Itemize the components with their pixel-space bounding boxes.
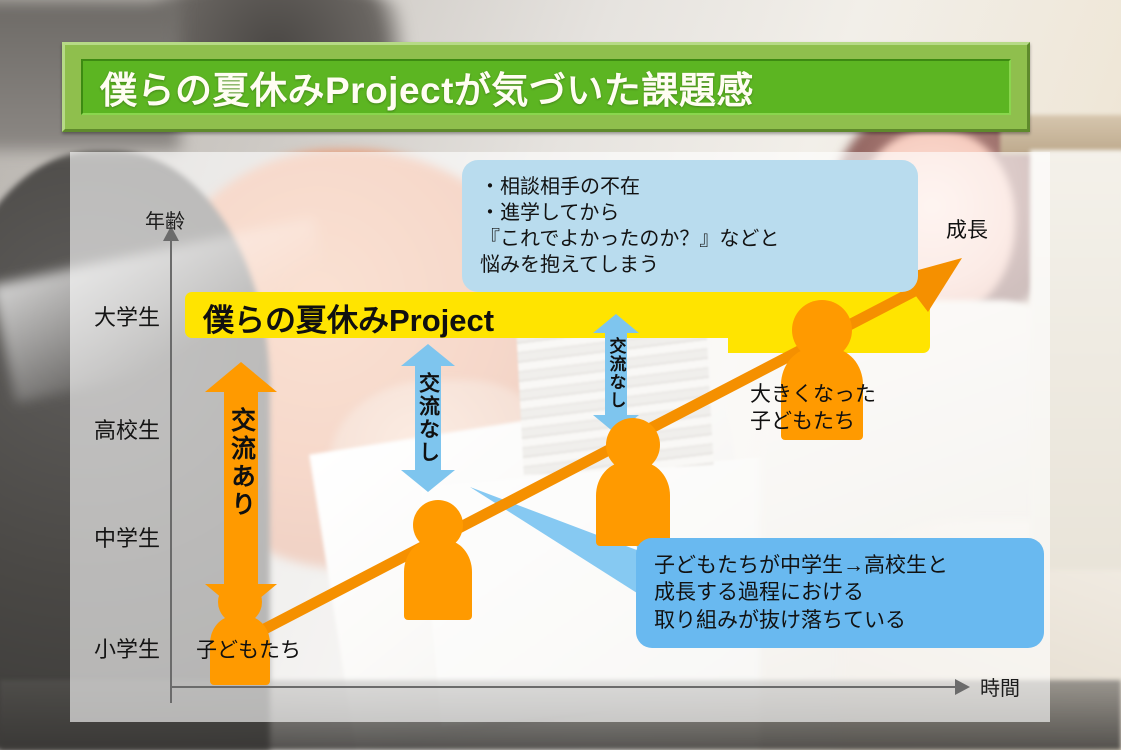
interval-arrow-no-exchange-2: 交流なし <box>592 314 640 434</box>
person-icon-highschool <box>592 418 674 546</box>
callout-line: 成長する過程における <box>654 579 1026 606</box>
slide-canvas: 僕らの夏休みProjectが気づいた課題感 年齢 時間 大学生 高校生 中学生 … <box>0 0 1121 750</box>
label-grown-children-line2: 子どもたち <box>750 409 876 436</box>
y-tick-highschool: 高校生 <box>50 413 160 445</box>
arrowhead-down-icon <box>401 470 455 492</box>
callout-line: 『これでよかったのか？』などと <box>480 226 900 252</box>
callout-line: 取り組みが抜け落ちている <box>654 607 1026 634</box>
callout-line: ・相談相手の不在 <box>480 174 900 200</box>
arrowhead-up-icon <box>205 362 277 392</box>
interval-arrow-label: 交流なし <box>418 372 439 464</box>
x-axis-arrowhead-icon <box>955 679 970 695</box>
interval-arrow-no-exchange-1: 交流なし <box>400 344 456 492</box>
person-icon-middleschool <box>400 500 476 620</box>
label-growth: 成長 <box>946 218 988 245</box>
interval-arrow-label: 交流なし <box>608 337 625 409</box>
interval-arrow-label: 交流あり <box>229 407 254 519</box>
person-icon-elementary <box>207 580 273 685</box>
label-children: 子どもたち <box>196 638 301 665</box>
callout-line: ・進学してから <box>480 200 900 226</box>
x-axis-line <box>170 686 960 688</box>
y-axis-label: 年齢 <box>145 205 185 234</box>
callout-line: 悩みを抱えてしまう <box>480 252 900 278</box>
label-grown-children-line1: 大きくなった <box>750 382 876 409</box>
y-tick-university: 大学生 <box>50 300 160 332</box>
project-band-label: 僕らの夏休みProject <box>203 295 494 340</box>
person-body <box>596 462 670 546</box>
y-axis-line <box>170 238 172 703</box>
page-title: 僕らの夏休みProjectが気づいた課題感 <box>62 42 1030 132</box>
callout-problems: ・相談相手の不在 ・進学してから 『これでよかったのか？』などと 悩みを抱えてし… <box>462 160 918 292</box>
arrowhead-up-icon <box>401 344 455 366</box>
y-tick-elementary: 小学生 <box>50 632 160 664</box>
x-axis-label: 時間 <box>980 672 1020 701</box>
label-grown-children: 大きくなった 子どもたち <box>750 382 876 436</box>
slide-title-banner: 僕らの夏休みProjectが気づいた課題感 <box>62 42 1030 132</box>
y-tick-middleschool: 中学生 <box>50 521 160 553</box>
callout-gap: 子どもたちが中学生→高校生と 成長する過程における 取り組みが抜け落ちている <box>636 538 1044 648</box>
interval-arrow-exchange-yes: 交流あり <box>205 362 277 614</box>
callout-line: 子どもたちが中学生→高校生と <box>654 552 1026 579</box>
person-body <box>404 540 472 620</box>
